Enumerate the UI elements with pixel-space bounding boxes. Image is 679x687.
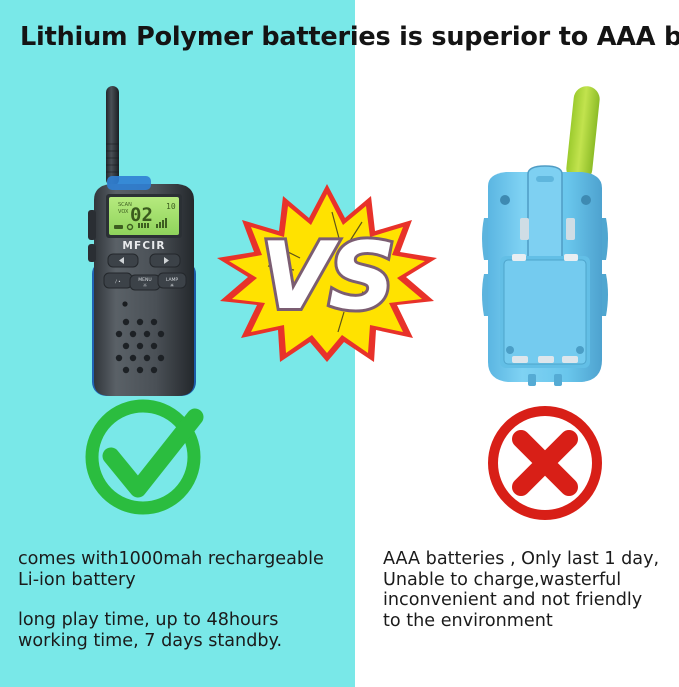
right-copy-paragraph-1: AAA batteries , Only last 1 day, Unable … — [383, 549, 673, 631]
left-copy-line-2: Li-ion battery — [18, 570, 353, 591]
left-benefits-copy: comes with1000mah rechargeable Li-ion ba… — [18, 549, 353, 651]
antenna — [106, 86, 119, 186]
left-copy-line-4: working time, 7 days standby. — [18, 631, 353, 652]
lcd-screen: SCAN VOX 02 10 — [106, 194, 182, 238]
svg-text:10: 10 — [166, 202, 176, 211]
right-drawbacks-copy: AAA batteries , Only last 1 day, Unable … — [383, 549, 673, 631]
green-check-icon — [83, 391, 207, 520]
antenna — [565, 85, 601, 183]
svg-text:02: 02 — [130, 204, 153, 226]
brand-label: MFCIR — [122, 240, 165, 252]
svg-text:/ •: / • — [115, 279, 121, 285]
red-cross-icon — [483, 398, 607, 527]
right-copy-line-3: inconvenient and not friendly — [383, 590, 673, 611]
left-copy-paragraph-2: long play time, up to 48hours working ti… — [18, 610, 353, 651]
svg-text:☼: ☼ — [143, 283, 147, 289]
right-product-image — [462, 78, 627, 413]
vs-badge: VS — [216, 182, 438, 364]
screw-right — [581, 195, 591, 205]
svg-text:☀: ☀ — [170, 283, 174, 289]
right-copy-line-1: AAA batteries , Only last 1 day, — [383, 549, 673, 570]
vs-label: VS — [261, 222, 392, 330]
right-copy-line-4: to the environment — [383, 611, 673, 632]
left-copy-line-1: comes with1000mah rechargeable — [18, 549, 353, 570]
function-buttons: / • MENU ☼ LAMP ☀ — [104, 273, 186, 290]
screw-left — [500, 195, 510, 205]
comparison-infographic: Lithium Polymer batteries is superior to… — [0, 0, 679, 687]
left-copy-line-3: long play time, up to 48hours — [18, 610, 353, 631]
left-copy-paragraph-1: comes with1000mah rechargeable Li-ion ba… — [18, 549, 353, 590]
microphone-hole — [122, 301, 127, 306]
right-copy-line-2: Unable to charge,wasterful — [383, 570, 673, 591]
svg-text:VOX: VOX — [118, 209, 129, 215]
headline: Lithium Polymer batteries is superior to… — [20, 22, 665, 52]
left-product-image: SCAN VOX 02 10 MFCIR — [78, 82, 223, 402]
